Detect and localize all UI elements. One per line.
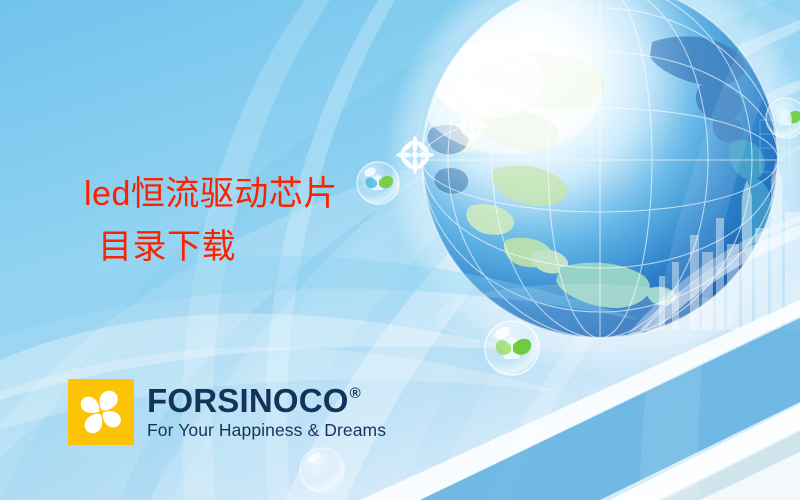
logo-wordmark-text: FORSINOCO [147,384,349,418]
headline-line-2: 目录下载 [84,221,338,274]
logo-wordmark: FORSINOCO ® [147,384,386,418]
pinwheel-flower-icon [68,379,134,445]
logo-text-block: FORSINOCO ® For Your Happiness & Dreams [147,379,386,440]
logo-tagline: For Your Happiness & Dreams [147,420,386,440]
headline-line-1: led恒流驱动芯片 [84,175,338,213]
company-logo[interactable]: FORSINOCO ® For Your Happiness & Dreams [68,379,386,445]
registered-trademark-icon: ® [350,386,361,401]
headline: led恒流驱动芯片 目录下载 [84,168,338,274]
slide-canvas: led恒流驱动芯片 目录下载 FORSINOCO ® For Your Happ… [0,0,800,500]
